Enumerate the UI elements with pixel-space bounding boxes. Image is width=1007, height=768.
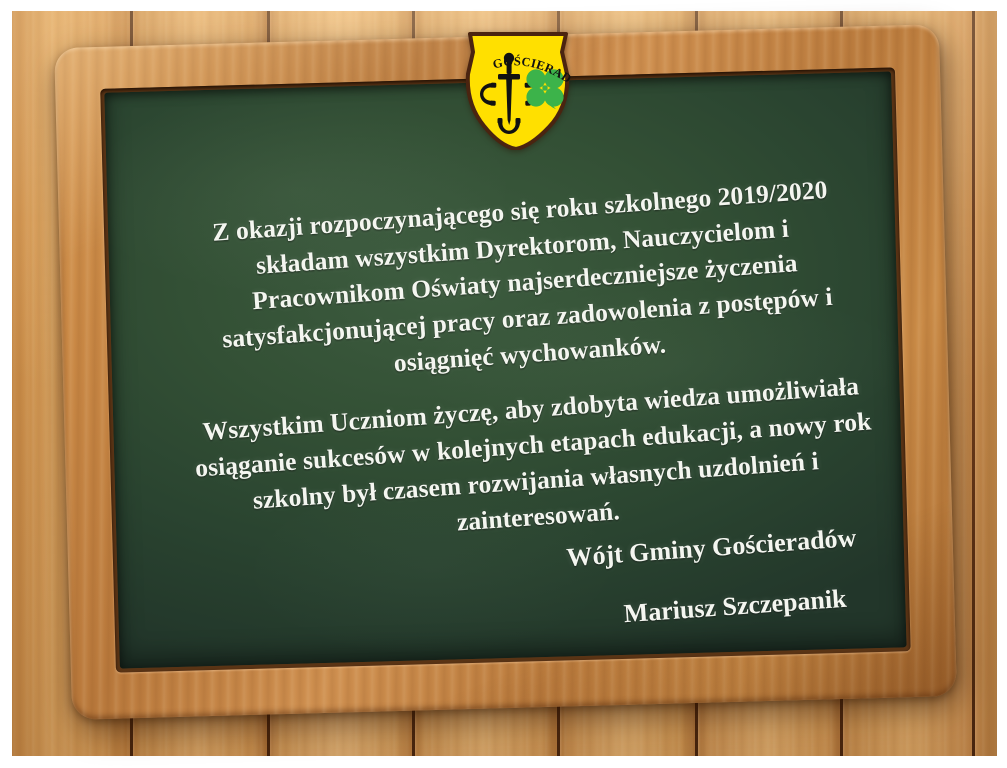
message-text: Z okazji rozpoczynającego się roku szkol… (160, 169, 895, 559)
coat-of-arms-icon: GOŚCIERADÓW (457, 22, 579, 150)
message-paragraph-1: Z okazji rozpoczynającego się roku szkol… (160, 169, 884, 397)
plank-seam (972, 11, 975, 756)
chalkboard-surface: Z okazji rozpoczynającego się roku szkol… (104, 71, 906, 668)
image-canvas: Z okazji rozpoczynającego się roku szkol… (0, 0, 1007, 768)
signature-name: Mariusz Szczepanik (122, 584, 869, 662)
